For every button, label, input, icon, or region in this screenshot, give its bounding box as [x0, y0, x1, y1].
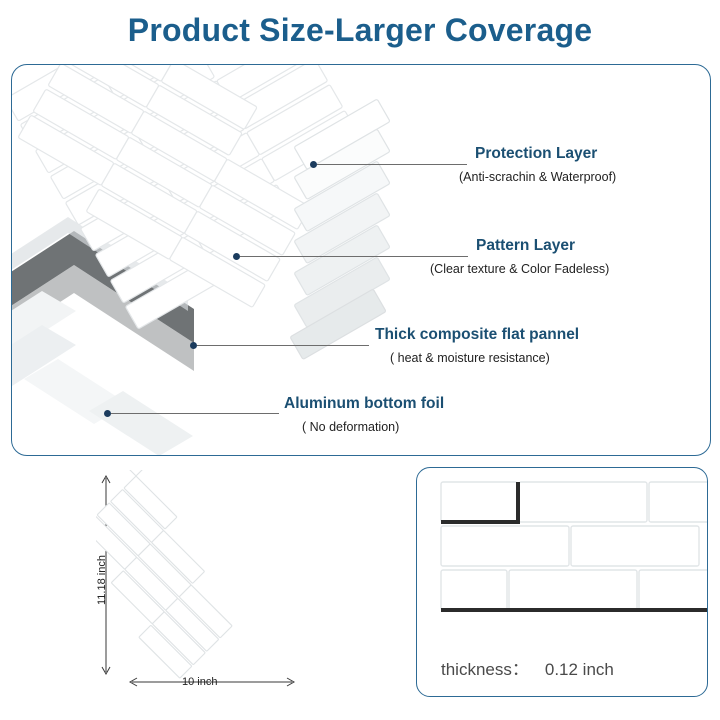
thickness-label-text: thickness：	[441, 660, 529, 679]
callout-sub-protection: (Anti-scrachin & Waterproof)	[459, 170, 616, 184]
callout-sub-foil: ( No deformation)	[302, 420, 399, 434]
page-title: Product Size-Larger Coverage	[0, 12, 720, 49]
callout-dot-composite	[190, 342, 197, 349]
thickness-card: thickness：0.12 inch	[416, 467, 708, 697]
callout-dot-pattern	[233, 253, 240, 260]
callout-leader-composite	[197, 345, 369, 346]
sample-herringbone-svg	[96, 470, 296, 690]
layers-panel-inner: Protection Layer (Anti-scrachin & Waterp…	[12, 65, 710, 455]
callout-dot-protection	[310, 161, 317, 168]
callout-dot-foil	[104, 410, 111, 417]
callout-sub-pattern: (Clear texture & Color Fadeless)	[430, 262, 609, 276]
callout-leader-protection	[317, 164, 467, 165]
product-info-page: Product Size-Larger Coverage	[0, 0, 720, 720]
sample-planks	[96, 470, 259, 678]
width-dimension-label: 10 inch	[182, 676, 217, 688]
thickness-label: thickness：0.12 inch	[441, 655, 614, 680]
callout-leader-foil	[111, 413, 279, 414]
callout-title-foil: Aluminum bottom foil	[284, 395, 444, 413]
layers-panel: Protection Layer (Anti-scrachin & Waterp…	[11, 64, 711, 456]
tile-sample-with-dimensions: 11.18 inch 10 inch	[96, 470, 286, 685]
height-dimension-label: 11.18 inch	[96, 555, 108, 605]
callout-sub-composite: ( heat & moisture resistance)	[390, 351, 550, 365]
callout-leader-pattern	[240, 256, 468, 257]
thickness-planks	[441, 482, 707, 610]
callout-title-protection: Protection Layer	[475, 145, 597, 163]
callout-title-composite: Thick composite flat pannel	[375, 326, 579, 344]
callout-title-pattern: Pattern Layer	[476, 237, 575, 255]
thickness-value: 0.12 inch	[545, 660, 614, 679]
